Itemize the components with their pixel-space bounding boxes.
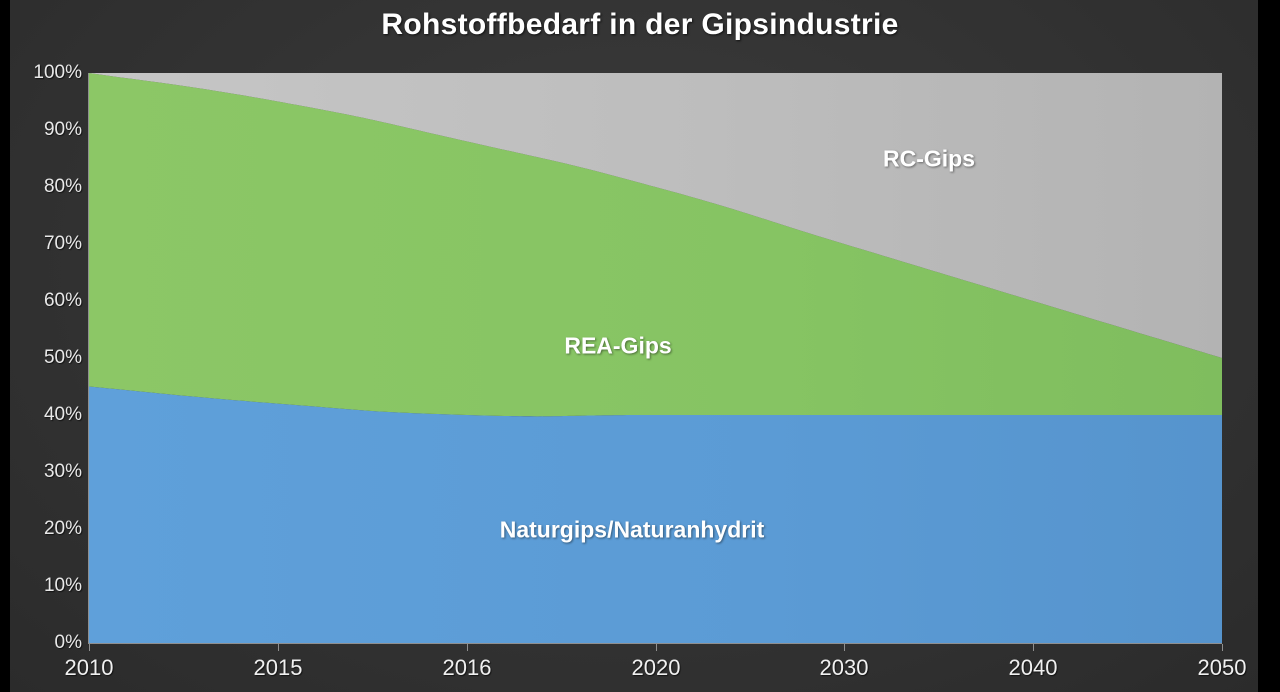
x-tick-label: 2010: [65, 655, 114, 681]
y-tick-label: 20%: [0, 519, 82, 538]
plot-area: [89, 73, 1222, 643]
x-tick-mark: [278, 644, 279, 651]
x-axis: 2010201520162020203020402050: [0, 655, 1280, 691]
y-tick-label: 100%: [0, 63, 82, 82]
x-tick-mark: [656, 644, 657, 651]
x-tick-mark: [1222, 644, 1223, 651]
slide-canvas: Rohstoffbedarf in der Gipsindustrie 0%10…: [0, 0, 1280, 692]
y-axis: 0%10%20%30%40%50%60%70%80%90%100%: [0, 73, 82, 643]
y-tick-label: 50%: [0, 348, 82, 367]
y-tick-label: 70%: [0, 234, 82, 253]
x-tick-label: 2015: [254, 655, 303, 681]
x-tick-label: 2020: [632, 655, 681, 681]
x-tick-label: 2040: [1009, 655, 1058, 681]
y-tick-label: 40%: [0, 405, 82, 424]
y-tick-label: 90%: [0, 120, 82, 139]
x-tick-mark: [89, 644, 90, 651]
area-series-naturgips-naturanhydrit: [89, 387, 1222, 644]
x-tick-label: 2016: [443, 655, 492, 681]
x-tick-mark: [467, 644, 468, 651]
stacked-area-chart: [89, 73, 1222, 643]
x-tick-label: 2050: [1198, 655, 1247, 681]
y-tick-label: 30%: [0, 462, 82, 481]
y-tick-label: 60%: [0, 291, 82, 310]
x-tick-mark: [1033, 644, 1034, 651]
x-tick-mark: [844, 644, 845, 651]
page-title: Rohstoffbedarf in der Gipsindustrie: [0, 8, 1280, 42]
y-tick-label: 10%: [0, 576, 82, 595]
y-tick-label: 80%: [0, 177, 82, 196]
x-tick-label: 2030: [820, 655, 869, 681]
y-tick-label: 0%: [0, 633, 82, 652]
